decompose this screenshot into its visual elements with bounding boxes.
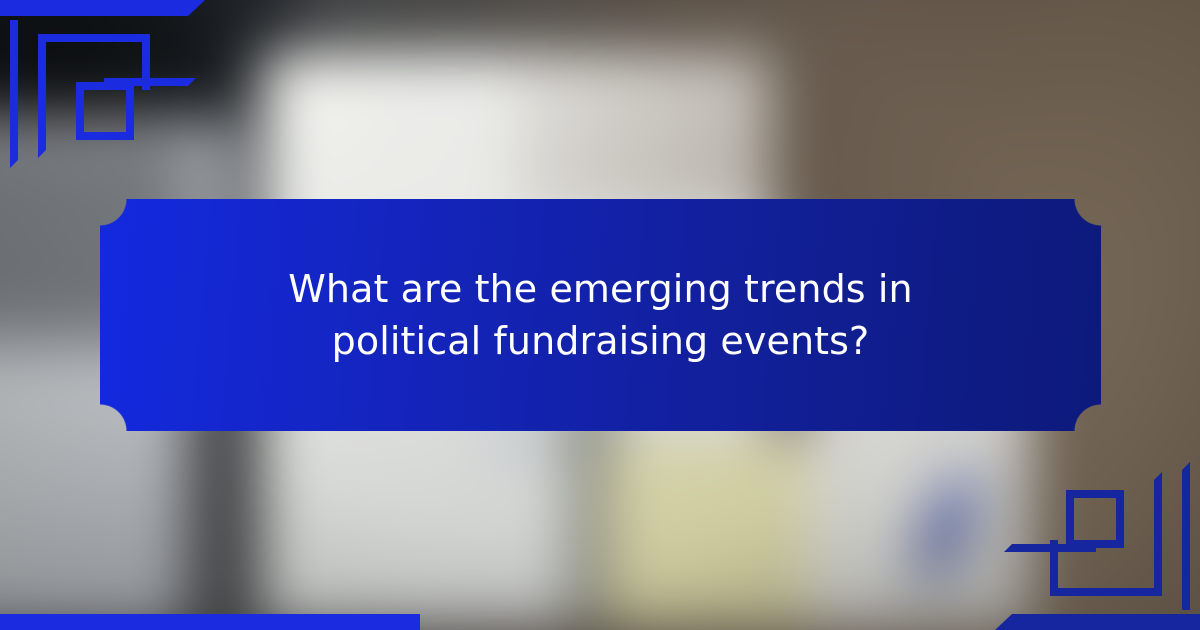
question-card: What are the emerging trends in politica… bbox=[0, 0, 1200, 630]
question-headline: What are the emerging trends in politica… bbox=[137, 263, 1065, 368]
question-banner: What are the emerging trends in politica… bbox=[100, 199, 1101, 431]
